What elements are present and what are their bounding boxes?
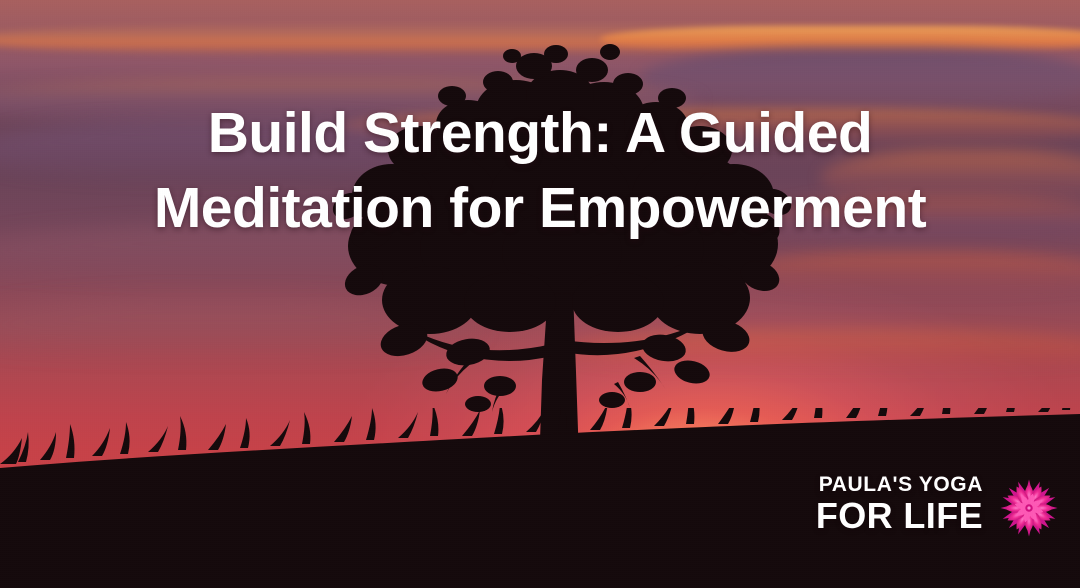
brand-logo-text: PAULA'S YOGA FOR LIFE (795, 474, 983, 535)
meditation-banner: Build Strength: A Guided Meditation for … (0, 0, 1080, 588)
brand-name-line1: PAULA'S YOGA (795, 474, 983, 495)
page-title: Build Strength: A Guided Meditation for … (120, 96, 960, 246)
cloud-band (720, 252, 1080, 296)
lotus-flower-icon (998, 477, 1060, 539)
cloud-band (0, 300, 480, 356)
cloud-band (560, 330, 1080, 370)
brand-name-line2: FOR LIFE (795, 497, 983, 535)
brand-logo[interactable]: PAULA'S YOGA FOR LIFE (795, 474, 1060, 544)
banner-title-wrapper: Build Strength: A Guided Meditation for … (0, 96, 1080, 246)
